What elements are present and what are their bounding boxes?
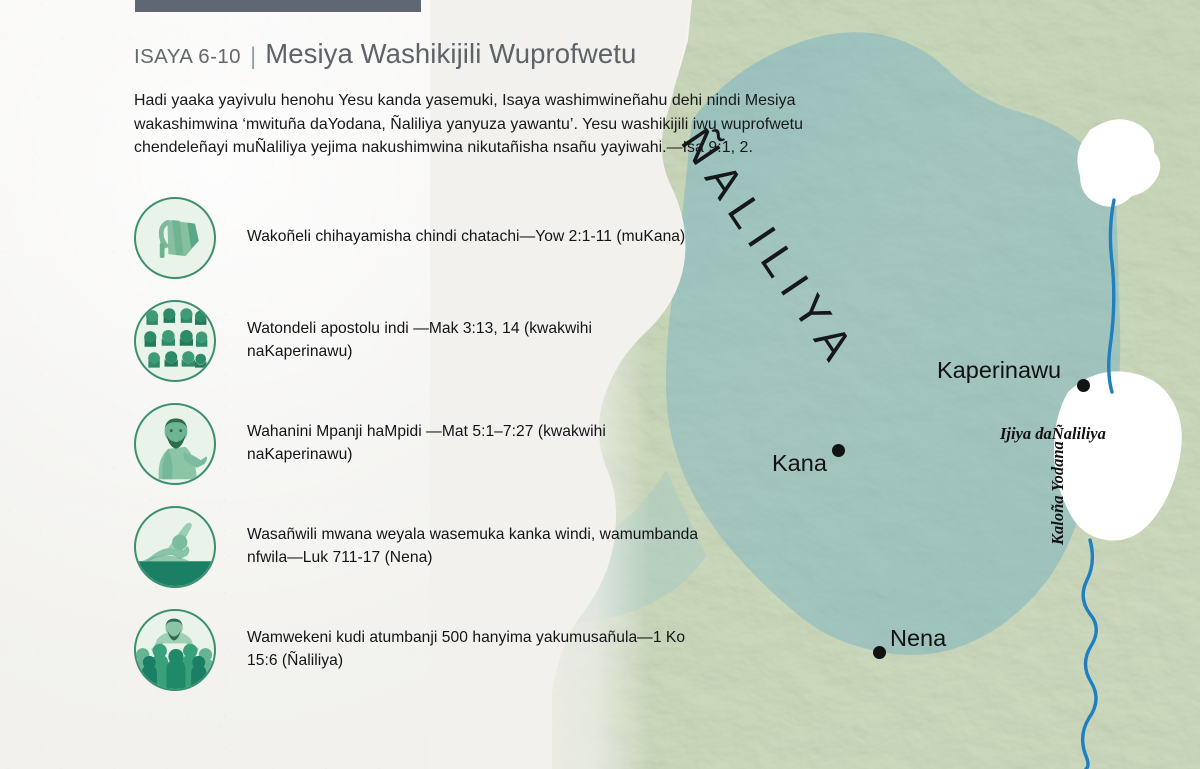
list-item-text: Wahanini Mpanji haMpidi —Mat 5:1–7:27 (k… <box>247 421 699 466</box>
list-item-text: Wakoñeli chihayamisha chindi chatachi—Yo… <box>247 226 685 248</box>
map-city-dot-nena <box>873 646 886 659</box>
twelve-apostles-icon <box>134 300 216 382</box>
intro-paragraph: Hadi yaaka yayivulu henohu Yesu kanda ya… <box>134 89 846 160</box>
page-title: ISAYA 6-10 | Mesiya Washikijili Wuprofwe… <box>134 38 860 70</box>
jesus-teaching-icon <box>134 403 216 485</box>
list-item: Wasañwili mwana weyala wasemuka kanka wi… <box>134 495 860 598</box>
list-item-text: Wasañwili mwana weyala wasemuka kanka wi… <box>247 524 699 569</box>
article-content: ISAYA 6-10 | Mesiya Washikijili Wuprofwe… <box>0 0 860 769</box>
list-item-text: Watondeli apostolu indi —Mak 3:13, 14 (k… <box>247 318 699 363</box>
list-item: Watondeli apostolu indi —Mak 3:13, 14 (k… <box>134 289 860 392</box>
page-root: ÑALILIYA Kaperinawu Kana Nena Ijiya daÑa… <box>0 0 1200 769</box>
jesus-crowd-icon <box>134 609 216 691</box>
title-text: Mesiya Washikijili Wuprofwetu <box>265 38 636 70</box>
list-item: Wakoñeli chihayamisha chindi chatachi—Yo… <box>134 186 860 289</box>
list-item-text: Wamwekeni kudi atumbanji 500 hanyima yak… <box>247 627 699 672</box>
scripture-kicker: ISAYA 6-10 <box>134 45 241 69</box>
list-item: Wahanini Mpanji haMpidi —Mat 5:1–7:27 (k… <box>134 392 860 495</box>
wine-jar-icon <box>134 197 216 279</box>
event-list: Wakoñeli chihayamisha chindi chatachi—Yo… <box>134 186 860 701</box>
resurrection-bier-icon <box>134 506 216 588</box>
list-item: Wamwekeni kudi atumbanji 500 hanyima yak… <box>134 598 860 701</box>
map-city-dot-kaperinawu <box>1077 379 1090 392</box>
title-divider: | <box>250 45 256 69</box>
